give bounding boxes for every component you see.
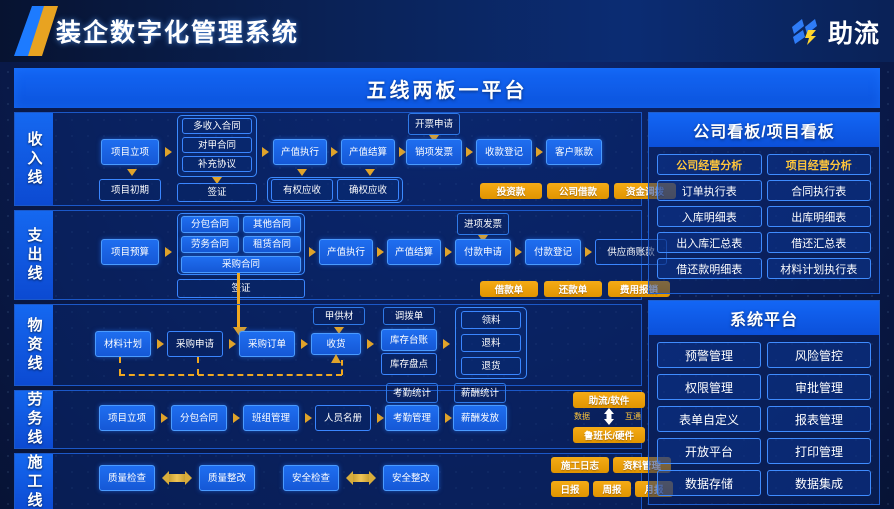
node-safety-rectification[interactable]: 安全整改 — [383, 465, 439, 491]
node-other-contract[interactable]: 其他合同 — [243, 216, 301, 233]
node-goods-return[interactable]: 退货 — [461, 357, 521, 375]
brand-logo: 助流 — [790, 14, 880, 50]
row-label-text: 劳务线 — [24, 391, 45, 448]
node-quality-inspection[interactable]: 质量检查 — [99, 465, 155, 491]
row-label-material: 物资线 — [15, 305, 53, 385]
row-label-text: 支出线 — [24, 227, 45, 284]
arrow-right-icon — [165, 147, 172, 157]
row-labor-line: 劳务线 项目立项 分包合同 班组管理 人员名册 考勤统计 考勤管理 薪酬统计 薪… — [14, 390, 642, 449]
arrow-up-icon — [331, 354, 341, 363]
node-team-management[interactable]: 班组管理 — [243, 405, 299, 431]
button-repayment-note[interactable]: 还款单 — [544, 281, 602, 297]
row-body-income: 项目立项 项目初期 多收入合同 对甲合同 补充协议 签证 产值执行 产值结算 有… — [53, 113, 641, 205]
node-confirmed-receivable[interactable]: 确权应收 — [337, 179, 399, 201]
panel-item-approval-management[interactable]: 审批管理 — [767, 374, 871, 400]
page-title: 装企数字化管理系统 — [56, 13, 299, 49]
button-investment-payment[interactable]: 投资款 — [480, 183, 542, 199]
arrow-right-icon — [515, 247, 522, 257]
arrow-down-icon — [365, 169, 375, 176]
node-supplementary-agreement[interactable]: 补充协议 — [182, 156, 252, 172]
node-inventory-count[interactable]: 库存盘点 — [381, 353, 437, 375]
node-customer-account[interactable]: 客户账款 — [546, 139, 602, 165]
node-labor-project-initiation[interactable]: 项目立项 — [99, 405, 155, 431]
row-body-expense: 项目预算 分包合同 其他合同 劳务合同 租赁合同 采购合同 签证 产值执行 产值… — [53, 211, 641, 299]
panel-item-open-platform[interactable]: 开放平台 — [657, 438, 761, 464]
node-personnel-roster[interactable]: 人员名册 — [315, 405, 371, 431]
arrow-right-icon — [445, 247, 452, 257]
panel-item-inbound-detail[interactable]: 入库明细表 — [657, 206, 762, 227]
panel-item-alert-management[interactable]: 预警管理 — [657, 342, 761, 368]
double-arrow-icon — [353, 474, 369, 482]
panel-dashboard-grid: 公司经营分析 项目经营分析 订单执行表 合同执行表 入库明细表 出库明细表 出入… — [649, 147, 879, 286]
arrow-right-icon — [331, 147, 338, 157]
node-output-execution[interactable]: 产值执行 — [273, 139, 327, 165]
node-material-requisition[interactable]: 领料 — [461, 311, 521, 329]
row-label-labor: 劳务线 — [15, 391, 53, 448]
double-arrow-icon — [169, 474, 185, 482]
row-label-text: 施工线 — [24, 454, 45, 509]
panel-dashboard: 公司看板/项目看板 公司经营分析 项目经营分析 订单执行表 合同执行表 入库明细… — [648, 112, 880, 294]
arrow-right-icon — [466, 147, 473, 157]
panel-item-print-management[interactable]: 打印管理 — [767, 438, 871, 464]
button-construction-log[interactable]: 施工日志 — [551, 457, 609, 473]
arrow-right-icon — [445, 413, 452, 423]
arrow-right-icon — [161, 413, 168, 423]
panel-item-risk-control[interactable]: 风险管控 — [767, 342, 871, 368]
node-input-invoice[interactable]: 进项发票 — [457, 213, 509, 235]
node-safety-inspection[interactable]: 安全检查 — [283, 465, 339, 491]
node-output-settlement[interactable]: 产值结算 — [341, 139, 395, 165]
arrow-right-icon — [399, 147, 406, 157]
button-zhuliu-software[interactable]: 助流/软件 — [573, 392, 645, 408]
node-purchase-contract[interactable]: 采购合同 — [181, 256, 301, 273]
node-owner-supplied-material[interactable]: 甲供材 — [313, 307, 365, 325]
node-purchase-application[interactable]: 采购申请 — [167, 331, 223, 357]
panel-item-project-analysis[interactable]: 项目经营分析 — [767, 154, 872, 175]
panel-system-title: 系统平台 — [649, 301, 879, 335]
node-labor-contract[interactable]: 劳务合同 — [181, 236, 239, 253]
panel-item-inout-summary[interactable]: 出入库汇总表 — [657, 232, 762, 253]
panel-item-data-integration[interactable]: 数据集成 — [767, 470, 871, 496]
arrow-down-icon — [297, 169, 307, 176]
node-goods-receipt[interactable]: 收货 — [311, 333, 361, 355]
arrow-right-icon — [262, 147, 269, 157]
slash-logo-icon — [14, 4, 58, 58]
node-material-return[interactable]: 退料 — [461, 334, 521, 352]
row-label-expense: 支出线 — [15, 211, 53, 299]
node-salary-payment[interactable]: 薪酬发放 — [453, 405, 507, 431]
node-multi-income-contract[interactable]: 多收入合同 — [182, 118, 252, 134]
panel-item-permission-management[interactable]: 权限管理 — [657, 374, 761, 400]
panel-dashboard-title: 公司看板/项目看板 — [649, 113, 879, 147]
node-project-initiation[interactable]: 项目立项 — [101, 139, 159, 165]
node-invoice-application[interactable]: 开票申请 — [408, 113, 460, 135]
dashed-connector-vertical-mid — [197, 357, 199, 375]
arrow-right-icon — [536, 147, 543, 157]
main-banner: 五线两板一平台 — [14, 68, 880, 108]
node-quality-rectification[interactable]: 质量整改 — [199, 465, 255, 491]
node-sales-invoice[interactable]: 销项发票 — [406, 139, 462, 165]
arrow-right-icon — [165, 247, 172, 257]
node-entitled-receivable[interactable]: 有权应收 — [271, 179, 333, 201]
panel-system-platform: 系统平台 预警管理 风险管控 权限管理 审批管理 表单自定义 报表管理 开放平台… — [648, 300, 880, 505]
button-company-loan[interactable]: 公司借款 — [547, 183, 609, 199]
link-label-data: 数据 — [574, 411, 590, 422]
arrow-right-icon — [229, 339, 236, 349]
link-label-interop: 互通 — [625, 411, 641, 422]
node-purchase-order[interactable]: 采购订单 — [239, 331, 295, 357]
row-label-text: 收入线 — [24, 131, 45, 188]
lightning-bolt-logo-icon — [790, 17, 822, 47]
dashed-connector-vertical-left — [119, 357, 121, 375]
arrow-right-icon — [157, 339, 164, 349]
button-lubanzhang-hardware[interactable]: 鲁班长/硬件 — [573, 427, 645, 443]
node-payment-application[interactable]: 付款申请 — [455, 239, 511, 265]
row-material-line: 物资线 材料计划 采购申请 采购订单 甲供材 收货 调拨单 库存台账 库存盘点 — [14, 304, 642, 386]
panel-item-material-plan-execution[interactable]: 材料计划执行表 — [767, 258, 872, 279]
process-lines-container: 收入线 项目立项 项目初期 多收入合同 对甲合同 补充协议 签证 产值执行 产值… — [14, 112, 642, 509]
panel-item-outbound-detail[interactable]: 出库明细表 — [767, 206, 872, 227]
arrow-right-icon — [309, 247, 316, 257]
arrow-right-icon — [233, 413, 240, 423]
button-weekly-report[interactable]: 周报 — [593, 481, 631, 497]
node-project-early[interactable]: 项目初期 — [99, 179, 161, 201]
banner-text: 五线两板一平台 — [367, 74, 528, 103]
node-output-execution-expense[interactable]: 产值执行 — [319, 239, 373, 265]
arrow-right-icon — [305, 413, 312, 423]
node-transfer-note[interactable]: 调拨单 — [383, 307, 435, 325]
node-owner-contract[interactable]: 对甲合同 — [182, 137, 252, 153]
row-expense-line: 支出线 项目预算 分包合同 其他合同 劳务合同 租赁合同 采购合同 签证 产值执… — [14, 210, 642, 300]
panel-item-company-analysis[interactable]: 公司经营分析 — [657, 154, 762, 175]
row-label-text: 物资线 — [24, 317, 45, 374]
node-payment-registration[interactable]: 收款登记 — [476, 139, 532, 165]
node-project-budget[interactable]: 项目预算 — [101, 239, 159, 265]
node-attendance-statistics[interactable]: 考勤统计 — [386, 383, 438, 403]
bidirectional-sync-icon — [601, 408, 617, 425]
panel-item-order-execution[interactable]: 订单执行表 — [657, 180, 762, 201]
panel-item-loan-summary[interactable]: 借还汇总表 — [767, 232, 872, 253]
arrow-right-icon — [301, 339, 308, 349]
row-body-construction: 质量检查 质量整改 安全检查 安全整改 施工日志 资料管理 日报 周报 月报 — [53, 454, 641, 504]
panel-item-form-customization[interactable]: 表单自定义 — [657, 406, 761, 432]
row-income-line: 收入线 项目立项 项目初期 多收入合同 对甲合同 补充协议 签证 产值执行 产值… — [14, 112, 642, 206]
panel-item-data-storage[interactable]: 数据存储 — [657, 470, 761, 496]
arrow-right-icon — [377, 413, 384, 423]
row-body-labor: 项目立项 分包合同 班组管理 人员名册 考勤统计 考勤管理 薪酬统计 薪酬发放 … — [53, 391, 641, 445]
app-header: 装企数字化管理系统 助流 — [0, 0, 894, 62]
panel-system-grid: 预警管理 风险管控 权限管理 审批管理 表单自定义 报表管理 开放平台 打印管理… — [649, 335, 879, 503]
dashed-connector-horizontal — [119, 374, 342, 376]
arrow-right-icon — [585, 247, 592, 257]
node-inventory-ledger[interactable]: 库存台账 — [381, 329, 437, 351]
dashed-connector-vertical-right — [341, 360, 343, 375]
arrow-right-icon — [367, 339, 374, 349]
app-root: 装企数字化管理系统 助流 五线两板一平台 收入线 项目立项 项目初期 — [0, 0, 894, 509]
node-output-settlement-expense[interactable]: 产值结算 — [387, 239, 441, 265]
node-material-plan[interactable]: 材料计划 — [95, 331, 151, 357]
row-label-income: 收入线 — [15, 113, 53, 205]
panel-item-contract-execution[interactable]: 合同执行表 — [767, 180, 872, 201]
row-body-material: 材料计划 采购申请 采购订单 甲供材 收货 调拨单 库存台账 库存盘点 领料 退… — [53, 305, 641, 385]
button-loan-note[interactable]: 借款单 — [480, 281, 538, 297]
arrow-right-icon — [377, 247, 384, 257]
brand-name: 助流 — [828, 14, 880, 50]
panel-item-loan-detail[interactable]: 借还款明细表 — [657, 258, 762, 279]
node-payment-register[interactable]: 付款登记 — [525, 239, 581, 265]
panel-item-report-management[interactable]: 报表管理 — [767, 406, 871, 432]
connector-from-expense — [237, 305, 240, 329]
node-visa-income[interactable]: 签证 — [177, 183, 257, 202]
row-label-construction: 施工线 — [15, 454, 53, 509]
arrow-down-icon — [127, 169, 137, 176]
arrow-right-icon — [443, 339, 450, 349]
node-labor-subcontract[interactable]: 分包合同 — [171, 405, 227, 431]
row-construction-line: 施工线 质量检查 质量整改 安全检查 安全整改 施工日志 资料管理 日报 周报 … — [14, 453, 642, 509]
node-lease-contract[interactable]: 租赁合同 — [243, 236, 301, 253]
button-daily-report[interactable]: 日报 — [551, 481, 589, 497]
node-visa-expense[interactable]: 签证 — [177, 279, 305, 298]
node-attendance-management[interactable]: 考勤管理 — [385, 405, 439, 431]
node-subcontract[interactable]: 分包合同 — [181, 216, 239, 233]
node-salary-statistics[interactable]: 薪酬统计 — [454, 383, 506, 403]
